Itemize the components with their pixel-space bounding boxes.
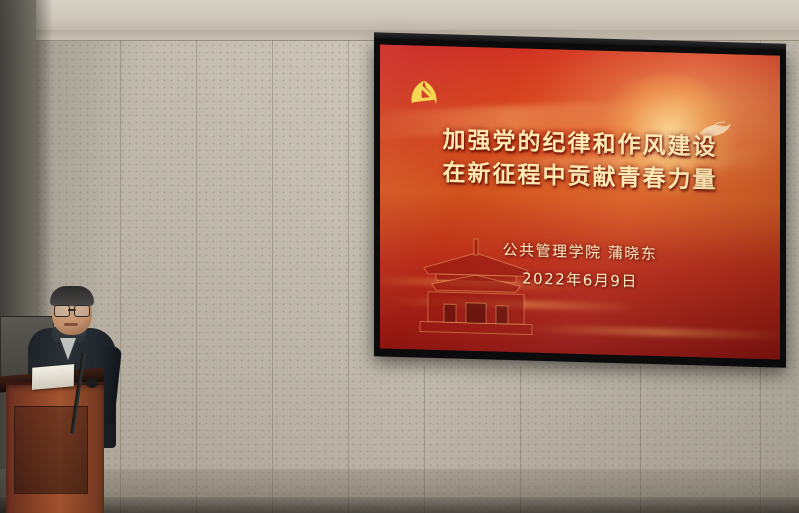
speaker-mouth <box>64 323 78 326</box>
eyeglass-lens-left <box>54 305 70 317</box>
projected-slide: 加强党的纪律和作风建设 在新征程中贡献青春力量 公共管理学院 蒲晓东 2022年… <box>380 44 780 359</box>
microphone-capsule <box>86 378 98 388</box>
wall-panel-seam <box>196 40 197 513</box>
wall-panel-seam <box>120 40 121 513</box>
party-emblem-hammer-sickle <box>404 73 446 114</box>
wall-panel-seam <box>272 40 273 513</box>
floor-shadow <box>0 497 799 513</box>
slide-subtitle-block: 公共管理学院 蒲晓东 2022年6月9日 <box>380 232 780 299</box>
eyeglass-lens-right <box>74 305 90 317</box>
projection-screen: 加强党的纪律和作风建设 在新征程中贡献青春力量 公共管理学院 蒲晓东 2022年… <box>374 38 786 368</box>
presentation-notes <box>32 364 74 390</box>
photograph-lecture-hall: 加强党的纪律和作风建设 在新征程中贡献青春力量 公共管理学院 蒲晓东 2022年… <box>0 0 799 513</box>
ceiling-band-upper <box>0 0 799 31</box>
speaker-hair <box>50 286 94 306</box>
podium-front-panel <box>14 406 88 494</box>
eyeglasses-icon <box>54 305 90 316</box>
wall-panel-seam <box>348 40 349 513</box>
slide-title-block: 加强党的纪律和作风建设 在新征程中贡献青春力量 <box>380 122 780 199</box>
